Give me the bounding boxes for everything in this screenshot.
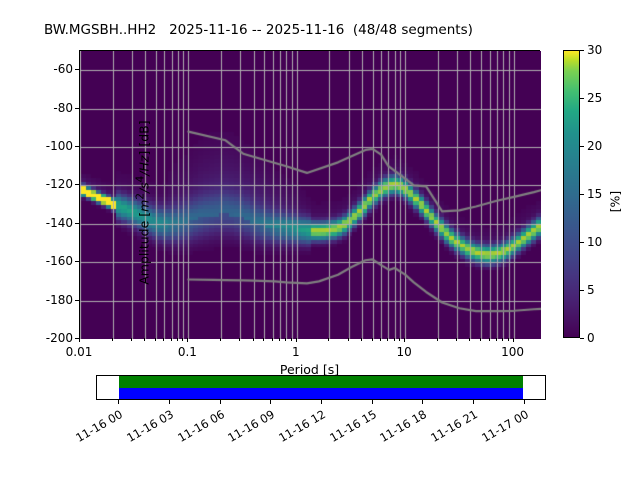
timeline-tick-mark — [169, 400, 170, 404]
y-tick-mark — [75, 261, 79, 262]
x-tick-mark — [348, 338, 349, 341]
colorbar-tick-label: 0 — [587, 331, 595, 345]
x-tick-mark — [508, 338, 509, 341]
y-axis-label: Amplitude [m2/s4/Hz] [dB] — [134, 53, 151, 353]
y-tick-mark — [75, 184, 79, 185]
x-tick-mark — [399, 338, 400, 341]
blue-coverage-bar — [119, 388, 523, 400]
x-tick-mark — [239, 338, 240, 341]
colorbar-tick-mark — [580, 242, 584, 243]
x-tick-mark — [489, 338, 490, 341]
timeline-tick-label: 11-16 15 — [318, 407, 379, 450]
x-tick-mark — [513, 338, 514, 342]
x-tick-mark — [112, 338, 113, 341]
x-tick-label: 0.01 — [66, 345, 93, 359]
colorbar-tick-label: 5 — [587, 283, 595, 297]
y-tick-label: -140 — [46, 216, 73, 230]
x-tick-mark — [220, 338, 221, 341]
x-tick-mark — [296, 338, 297, 342]
x-tick-mark — [456, 338, 457, 341]
colorbar-tick-mark — [580, 290, 584, 291]
colorbar-tick-mark — [580, 338, 584, 339]
x-tick-mark — [394, 338, 395, 341]
timeline-tick-label: 11-16 00 — [64, 407, 125, 450]
y-tick-mark — [75, 300, 79, 301]
colorbar[interactable] — [563, 50, 580, 338]
x-tick-label: 0.1 — [178, 345, 197, 359]
green-coverage-bar — [119, 376, 523, 388]
x-tick-mark — [187, 338, 188, 342]
x-tick-mark — [480, 338, 481, 341]
y-tick-label: -160 — [46, 254, 73, 268]
colorbar-tick-mark — [580, 98, 584, 99]
y-tick-label: -180 — [46, 293, 73, 307]
x-tick-mark — [163, 338, 164, 341]
x-tick-mark — [361, 338, 362, 341]
timeline-tick-mark — [473, 400, 474, 404]
x-tick-mark — [182, 338, 183, 341]
x-tick-mark — [171, 338, 172, 341]
colorbar-tick-label: 10 — [587, 235, 602, 249]
x-tick-label: 1 — [292, 345, 300, 359]
x-tick-label: 10 — [397, 345, 412, 359]
x-tick-mark — [285, 338, 286, 341]
colorbar-tick-label: 25 — [587, 91, 602, 105]
timeline-tick-label: 11-17 00 — [470, 407, 531, 450]
colorbar-tick-mark — [580, 50, 584, 51]
x-tick-mark — [279, 338, 280, 341]
x-tick-mark — [177, 338, 178, 341]
timeline-tick-mark — [524, 400, 525, 404]
colorbar-tick-mark — [580, 146, 584, 147]
timeline-tick-mark — [220, 400, 221, 404]
timeline-tick-label: 11-16 18 — [369, 407, 430, 450]
timeline-tick-mark — [321, 400, 322, 404]
y-tick-label: -120 — [46, 177, 73, 191]
x-tick-mark — [387, 338, 388, 341]
y-tick-label: -80 — [53, 101, 73, 115]
timeline-tick-label: 11-16 06 — [166, 407, 227, 450]
timeline-tick-mark — [422, 400, 423, 404]
timeline-tick-label: 11-16 09 — [217, 407, 278, 450]
timeline-tick-mark — [372, 400, 373, 404]
y-tick-mark — [75, 108, 79, 109]
x-tick-mark — [496, 338, 497, 341]
timeline-tick-mark — [118, 400, 119, 404]
y-tick-label: -60 — [53, 62, 73, 76]
timeline-tick-label: 11-16 03 — [115, 407, 176, 450]
x-tick-mark — [291, 338, 292, 341]
x-tick-label: 100 — [501, 345, 524, 359]
x-tick-mark — [272, 338, 273, 341]
x-tick-mark — [263, 338, 264, 341]
y-tick-mark — [75, 223, 79, 224]
data-coverage-timeline[interactable] — [96, 375, 546, 400]
x-tick-mark — [131, 338, 132, 341]
colorbar-tick-label: 15 — [587, 187, 602, 201]
colorbar-label: [%] — [607, 191, 622, 213]
colorbar-tick-label: 20 — [587, 139, 602, 153]
x-tick-mark — [437, 338, 438, 341]
x-tick-mark — [79, 338, 80, 342]
timeline-tick-label: 11-16 21 — [420, 407, 481, 450]
timeline-tick-label: 11-16 12 — [267, 407, 328, 450]
x-tick-mark — [502, 338, 503, 341]
x-tick-mark — [253, 338, 254, 341]
x-tick-mark — [155, 338, 156, 341]
page-title: BW.MGSBH..HH2 2025-11-16 -- 2025-11-16 (… — [44, 22, 473, 38]
x-tick-mark — [380, 338, 381, 341]
x-tick-mark — [372, 338, 373, 341]
y-tick-mark — [75, 69, 79, 70]
colorbar-tick-label: 30 — [587, 43, 602, 57]
y-tick-mark — [75, 146, 79, 147]
x-tick-mark — [404, 338, 405, 342]
x-tick-mark — [328, 338, 329, 341]
y-tick-label: -200 — [46, 331, 73, 345]
y-tick-label: -100 — [46, 139, 73, 153]
colorbar-tick-mark — [580, 194, 584, 195]
x-tick-mark — [469, 338, 470, 341]
timeline-tick-mark — [270, 400, 271, 404]
